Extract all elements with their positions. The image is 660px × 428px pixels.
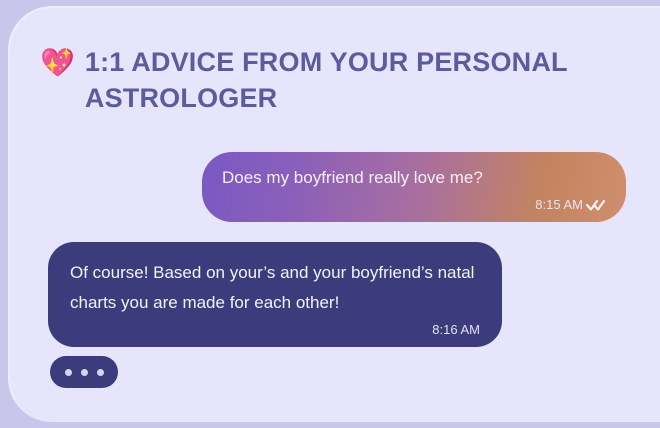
message-timestamp: 8:16 AM bbox=[432, 322, 480, 337]
chat-card: 💖 1:1 ADVICE FROM YOUR PERSONAL ASTROLOG… bbox=[8, 6, 660, 422]
typing-dot bbox=[81, 369, 88, 376]
message-thread: Does my boyfriend really love me? 8:15 A… bbox=[10, 138, 660, 422]
sparkling-heart-icon: 💖 bbox=[40, 46, 75, 80]
typing-dot bbox=[65, 369, 72, 376]
message-timestamp: 8:15 AM bbox=[535, 197, 583, 212]
message-text: Does my boyfriend really love me? bbox=[222, 166, 606, 189]
double-check-icon bbox=[586, 198, 606, 212]
screen-root: 💖 1:1 ADVICE FROM YOUR PERSONAL ASTROLOG… bbox=[0, 0, 660, 428]
typing-dot bbox=[97, 369, 104, 376]
message-meta: 8:15 AM bbox=[222, 197, 606, 212]
page-title: 1:1 ADVICE FROM YOUR PERSONAL ASTROLOGER bbox=[85, 44, 585, 116]
message-meta: 8:16 AM bbox=[70, 322, 480, 337]
typing-indicator bbox=[50, 356, 118, 388]
message-text: Of course! Based on your’s and your boyf… bbox=[70, 258, 480, 318]
card-header: 💖 1:1 ADVICE FROM YOUR PERSONAL ASTROLOG… bbox=[40, 44, 608, 116]
message-bubble-outgoing[interactable]: Does my boyfriend really love me? 8:15 A… bbox=[202, 152, 626, 222]
message-bubble-incoming[interactable]: Of course! Based on your’s and your boyf… bbox=[48, 242, 502, 347]
